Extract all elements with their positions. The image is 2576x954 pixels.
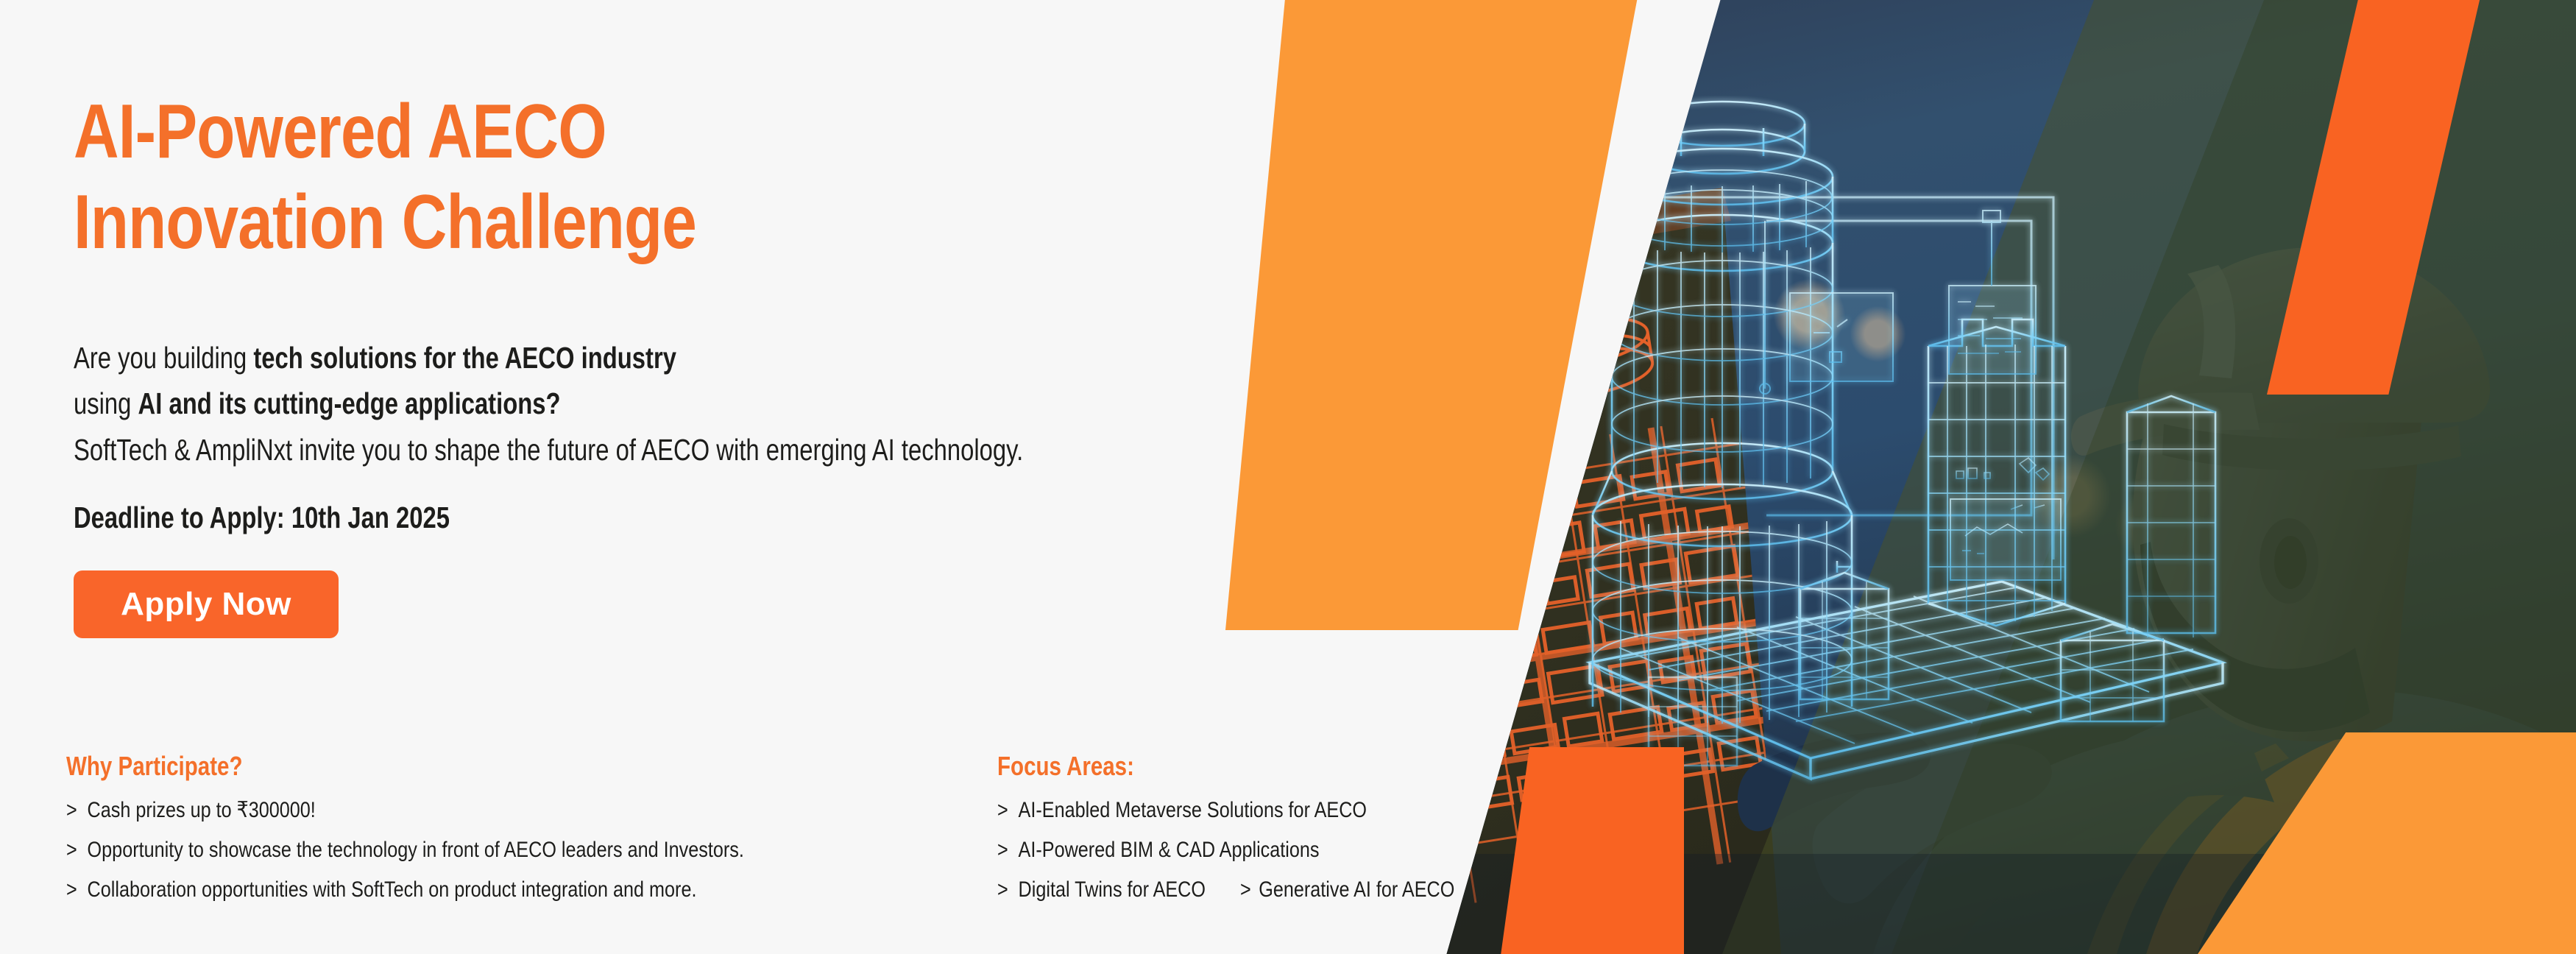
list-item: > AI-Enabled Metaverse Solutions for AEC… (997, 799, 1554, 821)
chevron-right-icon: > (997, 839, 1019, 861)
why-participate-title: Why Participate? (66, 751, 821, 782)
subcopy-line-1-plain: Are you building (74, 341, 253, 375)
subcopy-line-2: using AI and its cutting-edge applicatio… (74, 381, 1110, 426)
list-item-label: Opportunity to showcase the technology i… (88, 839, 744, 861)
chevron-right-icon: > (997, 799, 1019, 821)
list-item-label: AI-Enabled Metaverse Solutions for AECO (1019, 799, 1367, 821)
headline-line-1: AI-Powered AECO (74, 87, 870, 177)
list-item-label: AI-Powered BIM & CAD Applications (1019, 839, 1320, 861)
deadline-text: Deadline to Apply: 10th Jan 2025 (74, 501, 450, 535)
list-item: > Cash prizes up to ₹300000! (66, 799, 839, 821)
subcopy: Are you building tech solutions for the … (74, 335, 1110, 473)
list-item: > Opportunity to showcase the technology… (66, 839, 839, 861)
chevron-right-icon: > (66, 799, 88, 821)
subcopy-line-1-bold: tech solutions for the AECO industry (253, 341, 676, 375)
focus-areas-title: Focus Areas: (997, 751, 1540, 782)
chevron-right-icon: > (1240, 879, 1259, 901)
subcopy-line-3: SoftTech & AmpliNxt invite you to shape … (74, 427, 1110, 473)
list-item-label: Digital Twins for AECO (1019, 879, 1206, 901)
list-item-label: Cash prizes up to ₹300000! (88, 799, 316, 821)
chevron-right-icon: > (66, 879, 88, 901)
page-title: AI-Powered AECO Innovation Challenge (74, 87, 870, 267)
why-participate-section: Why Participate? > Cash prizes up to ₹30… (66, 751, 986, 919)
subcopy-line-2-plain: using (74, 386, 138, 420)
chevron-right-icon: > (997, 879, 1019, 901)
list-item-label: Collaboration opportunities with SoftTec… (88, 879, 697, 901)
subcopy-line-2-bold: AI and its cutting-edge applications? (138, 386, 561, 420)
list-item-label-extra: Generative AI for AECO (1259, 879, 1454, 901)
list-item: > Digital Twins for AECO > Generative AI… (997, 879, 1554, 901)
list-item: > AI-Powered BIM & CAD Applications (997, 839, 1554, 861)
focus-areas-section: Focus Areas: > AI-Enabled Metaverse Solu… (997, 751, 1660, 919)
headline-line-2: Innovation Challenge (74, 177, 870, 268)
chevron-right-icon: > (66, 839, 88, 861)
apply-now-button[interactable]: Apply Now (74, 570, 339, 638)
list-item: > Collaboration opportunities with SoftT… (66, 879, 839, 901)
promo-banner: AI-Powered AECO Innovation Challenge Are… (0, 0, 2576, 954)
content-column: AI-Powered AECO Innovation Challenge Are… (0, 0, 1251, 954)
subcopy-line-1: Are you building tech solutions for the … (74, 335, 1110, 381)
